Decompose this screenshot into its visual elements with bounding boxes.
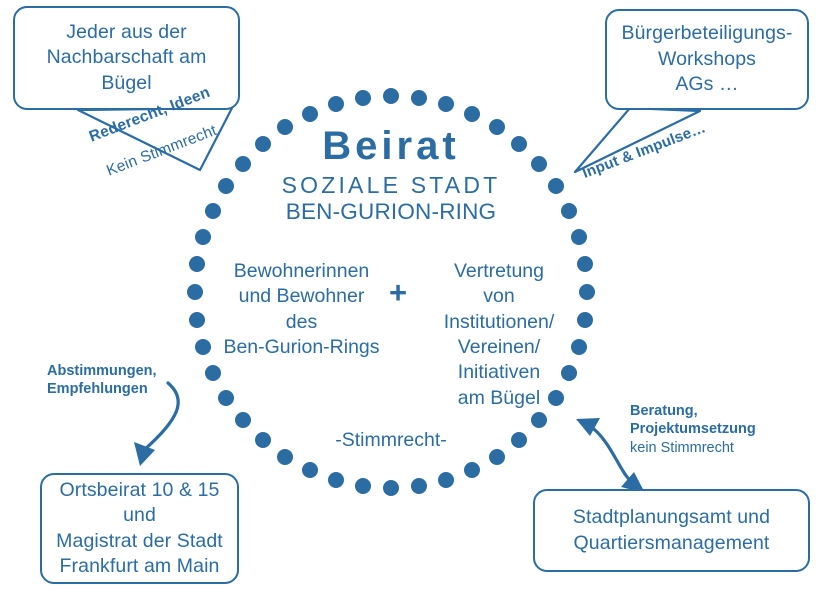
connector-label-beratung-line1: Beratung, xyxy=(630,402,756,420)
ring-dot xyxy=(328,472,344,488)
ring-dot xyxy=(571,339,587,355)
callout-planning[interactable]: Stadtplanungsamt und Quartiersmanagement xyxy=(533,489,810,572)
ring-dot xyxy=(195,339,211,355)
ring-dot xyxy=(383,88,399,104)
ring-dot xyxy=(464,106,480,122)
ring-dot xyxy=(235,156,251,172)
ring-dot xyxy=(489,119,505,135)
ring-dot xyxy=(255,136,271,152)
ring-dot xyxy=(302,462,318,478)
ring-dot xyxy=(577,312,593,328)
callout-council[interactable]: Ortsbeirat 10 & 15 und Magistrat der Sta… xyxy=(40,473,239,584)
connector-label-beratung-line3: kein Stimmrecht xyxy=(630,439,756,457)
ring-dot xyxy=(187,284,203,300)
ring-dot xyxy=(464,462,480,478)
ring-dot xyxy=(355,478,371,494)
ring-dot xyxy=(548,390,564,406)
connector-label-abstimmungen: Abstimmungen, Empfehlungen xyxy=(47,362,157,399)
connector-label-beratung-line2: Projektumsetzung xyxy=(630,420,756,438)
ring-dot xyxy=(189,256,205,272)
ring-dot xyxy=(438,472,454,488)
ring-dot xyxy=(511,432,527,448)
ring-dot xyxy=(383,480,399,496)
ring-dot xyxy=(571,229,587,245)
ring-dot xyxy=(548,178,564,194)
ring-dot xyxy=(302,106,318,122)
ring-dot xyxy=(531,412,547,428)
ring-dot xyxy=(561,365,577,381)
ring-dot xyxy=(438,96,454,112)
ring-dot xyxy=(561,203,577,219)
ring-dot xyxy=(218,178,234,194)
ring-dot xyxy=(205,365,221,381)
callout-participation[interactable]: Bürgerbeteiligungs- Workshops AGs … xyxy=(605,9,809,110)
ring-dot xyxy=(235,412,251,428)
ring-dot xyxy=(218,390,234,406)
ring-dot xyxy=(511,136,527,152)
diagram-canvas: Beirat SOZIALE STADT BEN-GURION-RING Bew… xyxy=(0,0,820,600)
ring-dot xyxy=(277,449,293,465)
connector-label-beratung: Beratung, Projektumsetzung kein Stimmrec… xyxy=(630,402,756,457)
ring-dot xyxy=(328,96,344,112)
ring-dot xyxy=(577,256,593,272)
ring-dot xyxy=(489,449,505,465)
ring-dot xyxy=(189,312,205,328)
ring-dot xyxy=(411,90,427,106)
connector-label-abstimmungen-text: Abstimmungen, Empfehlungen xyxy=(47,363,157,397)
ring-dot xyxy=(255,432,271,448)
ring-dot xyxy=(205,203,221,219)
ring-dot xyxy=(277,119,293,135)
ring-dot xyxy=(355,90,371,106)
callout-council-label: Ortsbeirat 10 & 15 und Magistrat der Sta… xyxy=(48,476,231,581)
ring-dot xyxy=(579,284,595,300)
callout-participation-label: Bürgerbeteiligungs- Workshops AGs … xyxy=(613,19,800,99)
ring-dot xyxy=(411,478,427,494)
ring-dot xyxy=(531,156,547,172)
callout-planning-label: Stadtplanungsamt und Quartiersmanagement xyxy=(565,503,778,558)
ring-dot xyxy=(195,229,211,245)
